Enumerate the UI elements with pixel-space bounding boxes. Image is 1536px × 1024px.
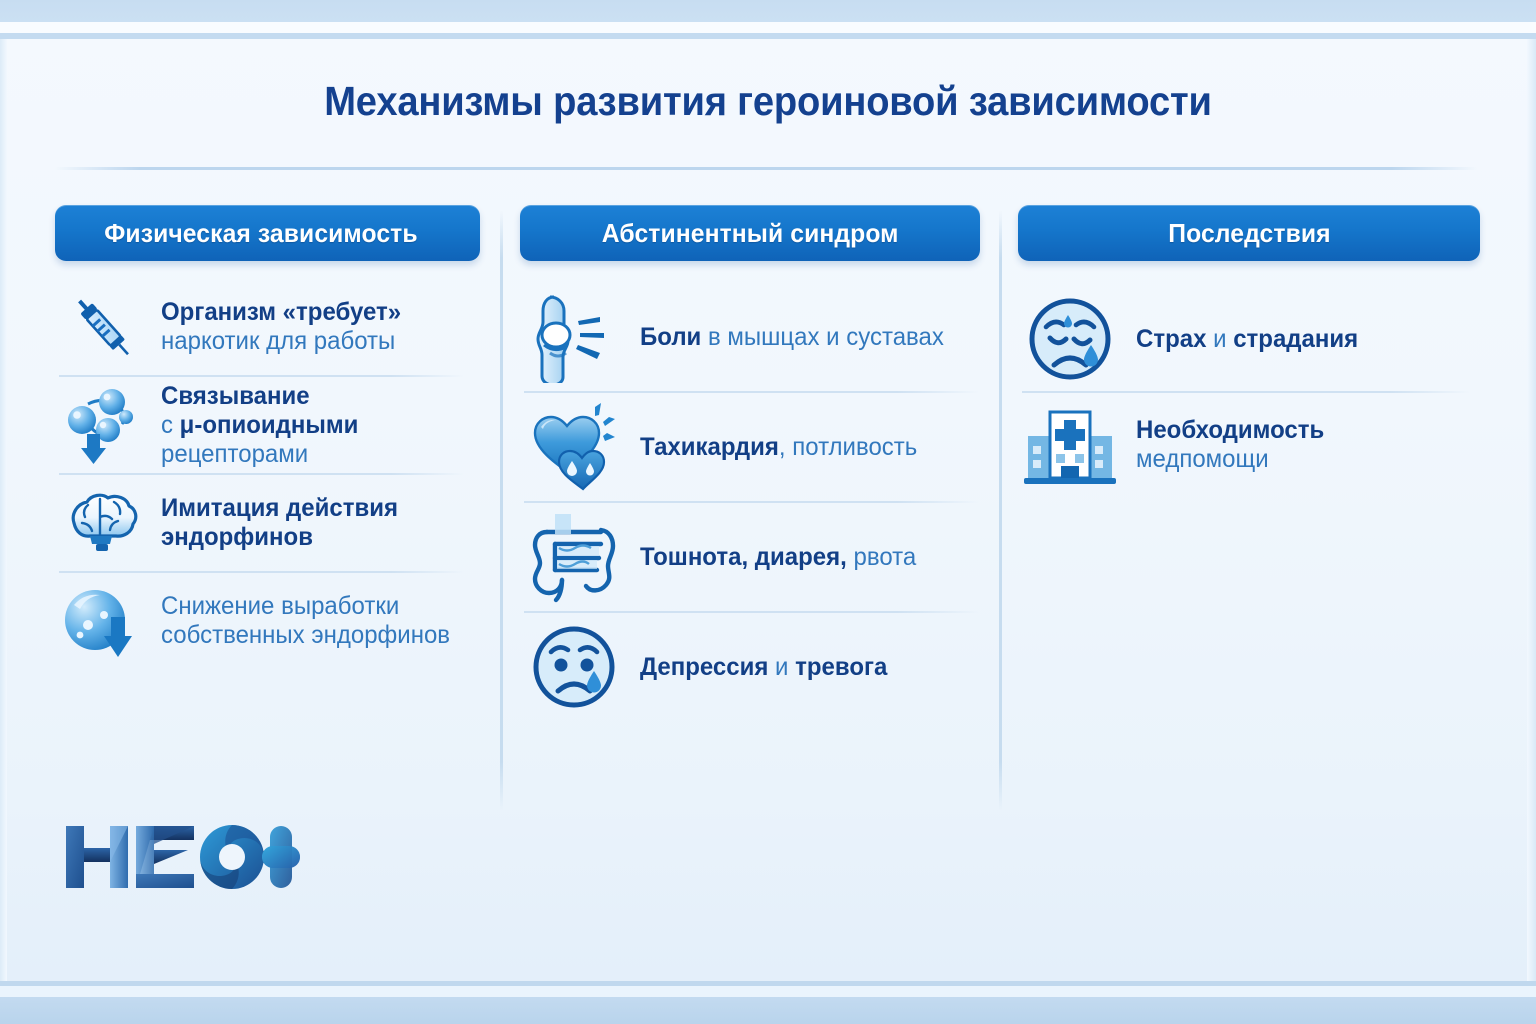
list-item-text: Страх и страдания xyxy=(1136,325,1358,354)
columns-container: Физическая зависимость xyxy=(0,205,1536,825)
column-header-label: Физическая зависимость xyxy=(104,218,417,249)
items-list: Страх и страдания xyxy=(1018,287,1480,497)
sad-face-tear-icon xyxy=(520,621,628,713)
column-consequences: Последствия xyxy=(1018,205,1480,497)
list-item: Депрессия и тревога xyxy=(520,613,980,721)
list-item-text: Организм «требует» наркотик для работы xyxy=(161,298,401,356)
line-suffix: в мышцах и суставах xyxy=(701,323,944,351)
line-bold: Необходимость xyxy=(1136,416,1324,444)
line-middle: и xyxy=(1206,325,1233,353)
brain-icon xyxy=(55,485,151,561)
syringe-icon xyxy=(55,286,151,368)
line-bold: Тахикардия xyxy=(640,433,779,461)
line-suffix: , потливость xyxy=(779,433,917,461)
line-tail: страдания xyxy=(1233,325,1358,353)
neo-plus-logo: НЕО+ xyxy=(62,818,302,896)
line-regular: наркотик для работы xyxy=(161,327,395,355)
bottom-band-gap xyxy=(0,986,1536,997)
column-header-consequences: Последствия xyxy=(1018,205,1480,261)
column-divider-1 xyxy=(500,210,503,810)
list-item: Имитация действия эндорфинов xyxy=(55,475,480,571)
intestine-icon xyxy=(520,510,628,604)
list-item: Тахикардия, потливость xyxy=(520,393,980,501)
column-physical-dependence: Физическая зависимость xyxy=(55,205,480,669)
line-bold: Организм «требует» xyxy=(161,298,401,326)
line-bold: Связывание xyxy=(161,382,310,410)
line-bold: Депрессия xyxy=(640,653,768,681)
list-item: Необходимость медпомощи xyxy=(1018,393,1480,497)
column-header-label: Последствия xyxy=(1168,218,1330,249)
molecule-receptor-icon xyxy=(55,382,151,468)
line-regular: собственных эндорфинов xyxy=(161,621,450,649)
list-item-text: Боли в мышцах и суставах xyxy=(640,323,944,352)
title-divider xyxy=(55,167,1477,170)
line-bold: Боли xyxy=(640,323,701,351)
list-item: Связывание с μ-опиоидными рецепторами xyxy=(55,377,480,473)
column-withdrawal-syndrome: Абстинентный синдром xyxy=(520,205,980,721)
top-accent-line xyxy=(0,33,1536,39)
list-item: Организм «требует» наркотик для работы xyxy=(55,279,480,375)
line-bold: Имитация действия xyxy=(161,494,398,522)
line-bold: μ-опиоидными xyxy=(180,411,359,439)
infographic-poster: Механизмы развития героиновой зависимост… xyxy=(0,0,1536,1024)
list-item: Боли в мышцах и суставах xyxy=(520,283,980,391)
line-regular: медпомощи xyxy=(1136,445,1269,473)
top-band-gap xyxy=(0,22,1536,33)
hospital-icon xyxy=(1018,402,1122,488)
line-bold: Страх xyxy=(1136,325,1206,353)
items-list: Организм «требует» наркотик для работы xyxy=(55,279,480,669)
column-divider-2 xyxy=(999,210,1002,810)
line-tail: тревога xyxy=(795,653,887,681)
line-regular: Снижение выработки xyxy=(161,592,399,620)
list-item: Тошнота, диарея, рвота xyxy=(520,503,980,611)
items-list: Боли в мышцах и суставах xyxy=(520,283,980,721)
list-item-text: Снижение выработки собственных эндорфино… xyxy=(161,592,450,650)
list-item: Страх и страдания xyxy=(1018,287,1480,391)
line-regular: рецепторами xyxy=(161,440,308,468)
list-item-text: Депрессия и тревога xyxy=(640,653,887,682)
line-prefix: с xyxy=(161,411,180,439)
line-suffix: рвота xyxy=(847,543,916,571)
column-header-withdrawal: Абстинентный синдром xyxy=(520,205,980,261)
worried-face-tear-icon xyxy=(1018,293,1122,385)
line-middle: и xyxy=(768,653,795,681)
list-item-text: Тошнота, диарея, рвота xyxy=(640,543,916,572)
heart-sweat-icon xyxy=(520,401,628,493)
list-item-text: Необходимость медпомощи xyxy=(1136,416,1324,474)
sphere-down-arrow-icon xyxy=(55,579,151,663)
list-item-text: Связывание с μ-опиоидными рецепторами xyxy=(161,382,358,469)
line-bold: эндорфинов xyxy=(161,523,313,551)
list-item-text: Тахикардия, потливость xyxy=(640,433,917,462)
top-band xyxy=(0,0,1536,22)
line-bold: Тошнота, диарея, xyxy=(640,543,847,571)
page-title: Механизмы развития героиновой зависимост… xyxy=(54,78,1482,125)
knee-joint-pain-icon xyxy=(520,291,628,383)
list-item: Снижение выработки собственных эндорфино… xyxy=(55,573,480,669)
column-header-label: Абстинентный синдром xyxy=(602,218,899,249)
list-item-text: Имитация действия эндорфинов xyxy=(161,494,398,552)
bottom-band xyxy=(0,997,1536,1024)
column-header-physical: Физическая зависимость xyxy=(55,205,480,261)
